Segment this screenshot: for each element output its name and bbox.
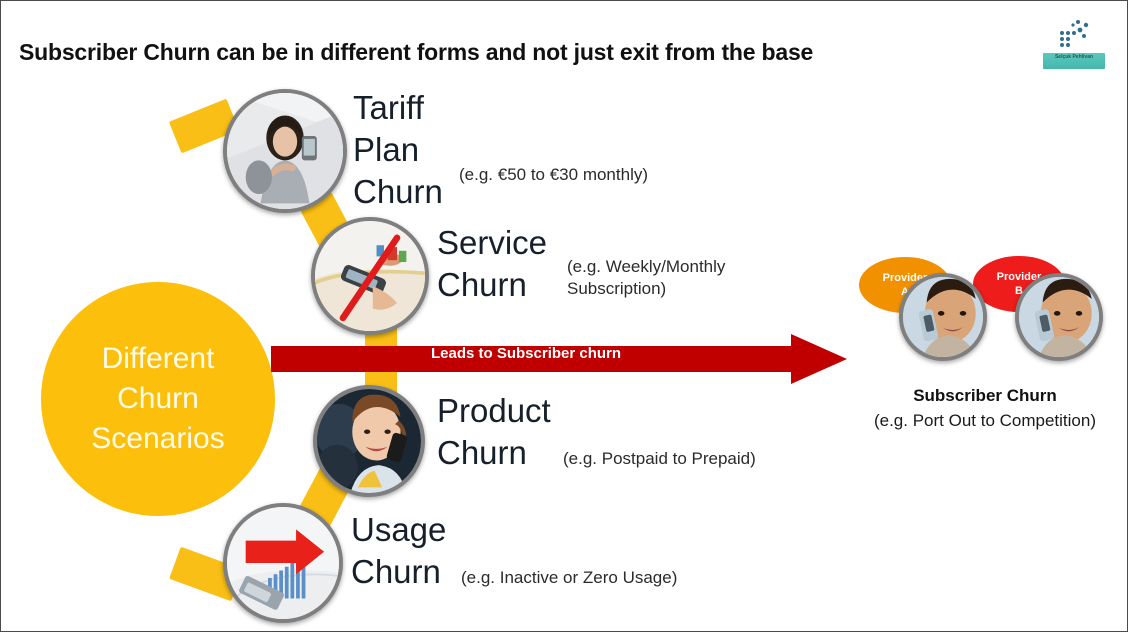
scenario-title-service-churn: Service Churn	[437, 222, 547, 306]
scenario-title-product-churn: Product Churn	[437, 390, 551, 474]
smiling-woman-calling-photo	[317, 389, 421, 493]
crossed-out-phone-photo	[315, 221, 425, 331]
logo-icon: Selçuk Pehlivan	[1043, 19, 1105, 71]
scenario-note-tariff-plan-churn: (e.g. €50 to €30 monthly)	[459, 164, 648, 186]
declining-usage-chart-photo	[227, 507, 339, 619]
bubble-service-churn	[311, 217, 429, 335]
bubble-product-churn	[313, 385, 425, 497]
bubble-tariff-plan-churn	[223, 89, 347, 213]
arrow-label: Leads to Subscriber churn	[431, 345, 621, 362]
scenario-note-usage-churn: (e.g. Inactive or Zero Usage)	[461, 567, 677, 589]
page-title: Subscriber Churn can be in different for…	[19, 39, 813, 66]
logo-dots-icon	[1057, 19, 1091, 49]
scenario-note-product-churn: (e.g. Postpaid to Prepaid)	[563, 448, 756, 470]
logo-label: Selçuk Pehlivan	[1043, 52, 1105, 62]
bubble-provider-b-subscriber	[1015, 273, 1103, 361]
scenario-title-usage-churn: Usage Churn	[351, 509, 446, 593]
hub-line-2: Churn	[117, 379, 199, 419]
bubble-usage-churn	[223, 503, 343, 623]
man-on-phone-photo-b	[1019, 277, 1099, 357]
man-on-phone-photo-a	[903, 277, 983, 357]
hub-circle: Different Churn Scenarios	[41, 282, 275, 516]
scenario-note-service-churn: (e.g. Weekly/Monthly Subscription)	[567, 256, 725, 300]
outcome-title: Subscriber Churn	[841, 386, 1128, 406]
hub-line-1: Different	[102, 339, 215, 379]
scenario-title-tariff-plan-churn: Tariff Plan Churn	[353, 87, 443, 213]
outcome-note: (e.g. Port Out to Competition)	[841, 411, 1128, 431]
hub-line-3: Scenarios	[91, 419, 224, 459]
woman-with-phone-photo	[227, 93, 343, 209]
slide-canvas: Subscriber Churn can be in different for…	[0, 0, 1128, 632]
bubble-provider-a-subscriber	[899, 273, 987, 361]
